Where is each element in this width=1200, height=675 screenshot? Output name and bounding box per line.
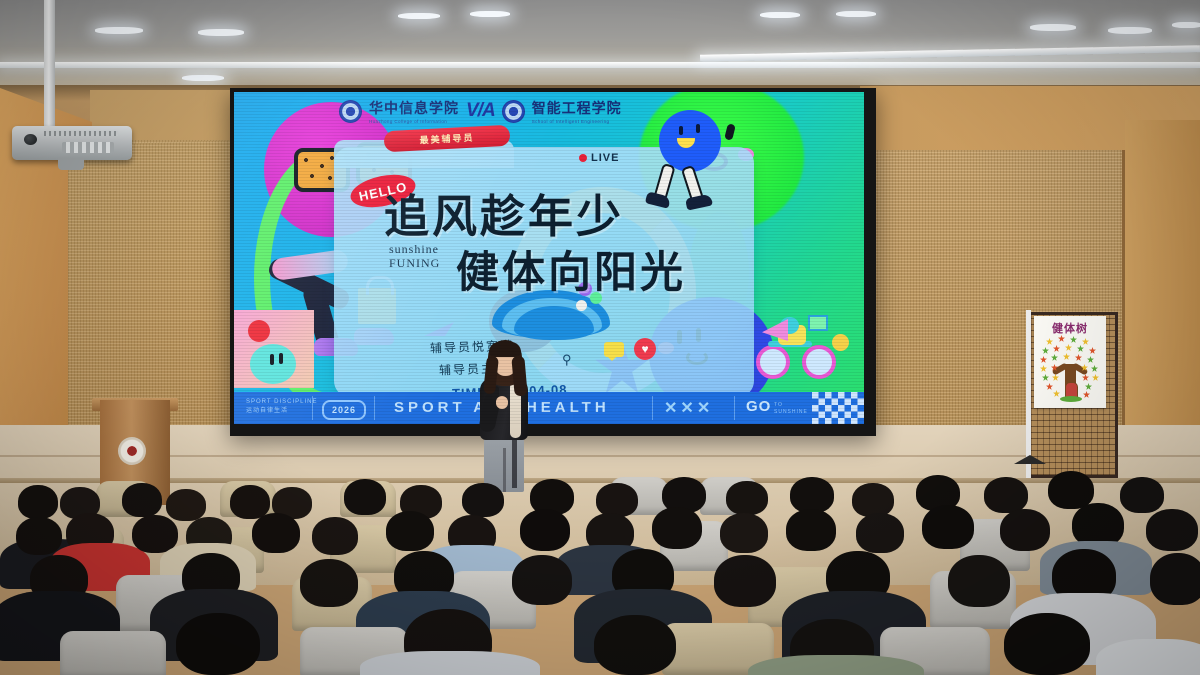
- bottom-bar-label-cn: 运动自律生活: [246, 407, 317, 416]
- live-label: LIVE: [591, 152, 619, 164]
- bottom-bar-label: SPORT DISCIPLINE 运动自律生活: [246, 398, 317, 416]
- bottom-bar-divider: [312, 396, 313, 420]
- seat: [60, 631, 166, 675]
- led-screen-frame: 最美辅导员 LIVE: [230, 88, 876, 436]
- poster-leaf: [1085, 383, 1092, 390]
- ceiling-light: [836, 11, 876, 17]
- audience-shoulders: [748, 655, 924, 675]
- projector-pole: [44, 0, 55, 128]
- bottom-bar-label-en: SPORT DISCIPLINE: [246, 398, 317, 407]
- poster-leaf: [1058, 335, 1065, 342]
- subtitle-line1: sunshine: [389, 242, 440, 256]
- poster-leaf: [1053, 390, 1060, 397]
- poster-board-leg: [1026, 310, 1031, 478]
- audience-head: [1004, 613, 1090, 675]
- audience-head: [1146, 509, 1198, 551]
- audience-head: [252, 513, 300, 553]
- audience-head: [1150, 553, 1200, 605]
- poster-leaf: [1046, 338, 1053, 345]
- checkerboard-pattern: [812, 392, 864, 424]
- poster-leaf: [1075, 354, 1082, 361]
- audience-head: [122, 483, 162, 517]
- bike-wheel-left: [756, 345, 790, 379]
- ceiling-light: [198, 29, 244, 36]
- audience-head: [652, 507, 702, 549]
- poster-leaf: [1082, 338, 1089, 345]
- small-orange-face: [832, 334, 849, 351]
- go-sub-line1: TO: [774, 402, 808, 409]
- school-seal-icon: [502, 100, 525, 123]
- poster-leaf: [1051, 354, 1058, 361]
- poster-leaf: [1092, 374, 1099, 381]
- audience-head: [230, 485, 270, 519]
- screen-logo-header: 华中信息学院 Huazhong College of Information V…: [339, 98, 622, 124]
- audience-head: [520, 509, 570, 551]
- ceiling-light: [1108, 27, 1152, 34]
- presenter-hand: [496, 396, 508, 409]
- ceiling-light: [470, 11, 510, 17]
- poster-leaf: [1077, 345, 1084, 352]
- audience-head: [16, 517, 62, 555]
- audience-area: [0, 455, 1200, 675]
- audience-head: [176, 613, 260, 675]
- poster-leaf: [1065, 344, 1072, 351]
- audience-head: [594, 615, 676, 675]
- bottom-bar-marks: ✕✕✕: [664, 398, 713, 418]
- screen-subtitle-en: sunshine FUNING: [389, 242, 440, 270]
- audience-head: [1120, 477, 1164, 513]
- ceiling-light-strip: [0, 62, 1200, 68]
- ceiling-light: [398, 13, 440, 19]
- blue-bird-eye-right: [696, 124, 700, 133]
- cyclist-cape: [762, 319, 788, 341]
- poster-leaf: [1046, 383, 1053, 390]
- projector-vent: [62, 142, 114, 153]
- audience-head: [984, 477, 1028, 513]
- poster-leaf: [1042, 374, 1049, 381]
- poster-leaf: [1063, 353, 1070, 360]
- college-seal-icon: [339, 100, 362, 123]
- audience-head: [948, 555, 1010, 607]
- live-badge: LIVE: [579, 152, 619, 164]
- audience-head: [714, 555, 776, 607]
- ceiling-light: [1172, 22, 1200, 28]
- red-dot-icon: [248, 320, 270, 342]
- poster: 健体树: [1034, 316, 1106, 408]
- poster-leaf: [1042, 347, 1049, 354]
- bottom-bar-go-sub: TO SUNSHINE: [774, 402, 808, 416]
- screen-title-line1: 追风趁年少: [384, 180, 624, 245]
- microphone-icon: ⚲: [562, 352, 572, 368]
- left-org-name-en: Huazhong College of Information: [369, 119, 459, 124]
- audience-head: [166, 489, 206, 521]
- projector-mount: [58, 158, 84, 170]
- audience-head: [1000, 509, 1050, 551]
- audience-head: [512, 555, 572, 605]
- via-logo-icon: V/A: [466, 100, 495, 122]
- subtitle-line2: FUNING: [389, 256, 440, 270]
- bottom-bar-go: GO: [746, 398, 771, 415]
- audience-head: [312, 517, 358, 555]
- bottom-bar-divider: [652, 396, 653, 420]
- bottom-bar-year: 2026: [322, 400, 366, 420]
- projector-grille: [44, 131, 118, 136]
- audience-head: [300, 559, 358, 607]
- poster-leaf: [1070, 336, 1077, 343]
- poster-leaf: [1087, 356, 1094, 363]
- poster-title: 健体树: [1034, 320, 1106, 336]
- audience-head: [922, 505, 974, 549]
- screen-title-line2: 健体向阳光: [456, 238, 686, 300]
- bottom-bar-divider: [734, 396, 735, 420]
- ceiling-light: [1030, 24, 1076, 31]
- audience-head: [726, 481, 768, 515]
- presenter-hair-front: [489, 342, 521, 357]
- audience-head: [462, 483, 504, 517]
- presenter-hair-side-right: [511, 356, 527, 397]
- poster-grass: [1060, 396, 1082, 402]
- poster-leaf: [1091, 365, 1098, 372]
- led-screen[interactable]: 最美辅导员 LIVE: [234, 92, 864, 424]
- audience-head: [1048, 471, 1094, 509]
- audience-shoulders: [360, 651, 540, 675]
- right-org-name-cn: 智能工程学院: [532, 98, 622, 118]
- ceiling: [0, 0, 1200, 92]
- mint-face-eye: [270, 354, 274, 365]
- red-banner-text: 最美辅导员: [419, 131, 475, 147]
- ceiling-light: [182, 75, 224, 81]
- blue-bird-eye-left: [679, 126, 683, 135]
- mint-face-eye-2: [279, 353, 283, 364]
- audience-head: [596, 483, 638, 517]
- audience-head: [790, 477, 834, 513]
- poster-leaf: [1089, 347, 1096, 354]
- auditorium-scene: 最美辅导员 LIVE: [0, 0, 1200, 675]
- audience-shoulders: [1096, 639, 1200, 675]
- ceiling-light: [95, 27, 143, 34]
- poster-leaf: [1052, 374, 1059, 381]
- poster-leaf: [1053, 345, 1060, 352]
- poster-leaf: [1082, 374, 1089, 381]
- audience-head: [386, 511, 434, 551]
- bottom-bar-divider: [374, 396, 375, 420]
- audience-head: [786, 509, 836, 551]
- live-dot-icon: [579, 154, 587, 162]
- poster-leaf: [1040, 365, 1047, 372]
- projector-lens-icon: [24, 134, 37, 145]
- audience-head: [344, 479, 386, 515]
- audience-head: [852, 483, 894, 517]
- cyclist-flag-icon: [808, 315, 828, 331]
- wave-bubble: [576, 300, 587, 311]
- heart-icon: ♥: [634, 338, 656, 360]
- bike-wheel-right: [802, 345, 836, 379]
- audience-head: [856, 513, 904, 553]
- poster-leaf: [1040, 356, 1047, 363]
- right-org-name-en: School of Intelligent Engineering: [532, 119, 622, 124]
- cyclist-character: [754, 317, 839, 377]
- ceiling-light: [760, 12, 800, 18]
- chat-icon: [604, 342, 624, 357]
- left-org-name-cn: 华中信息学院: [369, 98, 459, 118]
- poster-leaf: [1083, 391, 1090, 398]
- go-sub-line2: SUNSHINE: [774, 409, 808, 416]
- audience-head: [18, 485, 58, 519]
- audience-head: [720, 513, 768, 553]
